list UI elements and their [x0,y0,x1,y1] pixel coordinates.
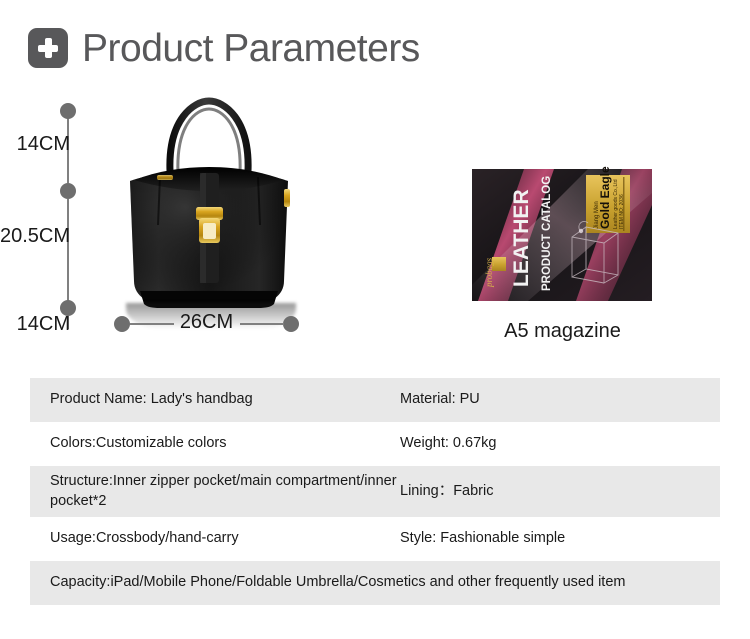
table-row: Usage:Crossbody/hand-carry Style: Fashio… [30,517,720,561]
spec-lining: Lining：Fabric [400,482,720,502]
dimension-label-handle-height: 14CM [4,133,70,156]
vertical-dimension-ruler [60,95,76,310]
magazine-title-catalog: PRODUCT CATALOG [541,176,553,291]
dimension-label-base-height: 14CM [4,313,70,336]
handbag-zipper-pull [284,189,290,207]
dimension-label-width: 26CM [114,311,299,334]
spec-table: Product Name: Lady's handbag Material: P… [30,378,720,605]
page-title: Product Parameters [82,29,420,68]
table-row: Capacity:iPad/Mobile Phone/Foldable Umbr… [30,561,720,605]
dimension-dot-middle [60,183,76,199]
magazine-label-brand: Gold Eagle [598,166,612,229]
dimension-dot-top [60,103,76,119]
magazine-brand-mark [492,257,506,271]
handbag-trim-left [157,175,173,180]
spec-style: Style: Fashionable simple [400,529,720,549]
table-row: Structure:Inner zipper pocket/main compa… [30,466,720,517]
magazine-label-code: ITEM NO: 2036 [619,194,625,229]
page-header: Product Parameters [28,28,420,68]
handbag-handle-inner-shadow [178,109,240,173]
magazine-image: LEATHER PRODUCT CATALOG Jiang Men Gold E… [468,165,658,305]
spec-weight: Weight: 0.67kg [400,434,720,454]
spec-structure: Structure:Inner zipper pocket/main compa… [30,472,400,511]
magazine-title-leather: LEATHER [510,189,533,287]
product-visual-area: 14CM 20.5CM 14CM [0,85,750,360]
spec-product-name: Product Name: Lady's handbag [30,390,400,410]
spec-colors: Colors:Customizable colors [30,434,400,454]
magazine-illustration: LEATHER PRODUCT CATALOG Jiang Men Gold E… [468,165,658,305]
handbag-illustration [108,85,313,330]
dimension-label-body-height: 20.5CM [0,225,70,248]
table-row: Product Name: Lady's handbag Material: P… [30,378,720,422]
magazine-caption: A5 magazine [440,320,685,343]
horizontal-dimension-ruler: 26CM [114,315,299,333]
spec-usage: Usage:Crossbody/hand-carry [30,529,400,549]
magazine-brand-name: probags [484,257,494,288]
handbag-image [108,85,313,330]
spec-capacity: Capacity:iPad/Mobile Phone/Foldable Umbr… [30,573,720,593]
table-row: Colors:Customizable colors Weight: 0.67k… [30,422,720,466]
plus-badge-icon [28,28,68,68]
handbag-buckle-inset [203,223,216,239]
magazine-wireframe-accent [579,229,583,233]
spec-material: Material: PU [400,390,720,410]
